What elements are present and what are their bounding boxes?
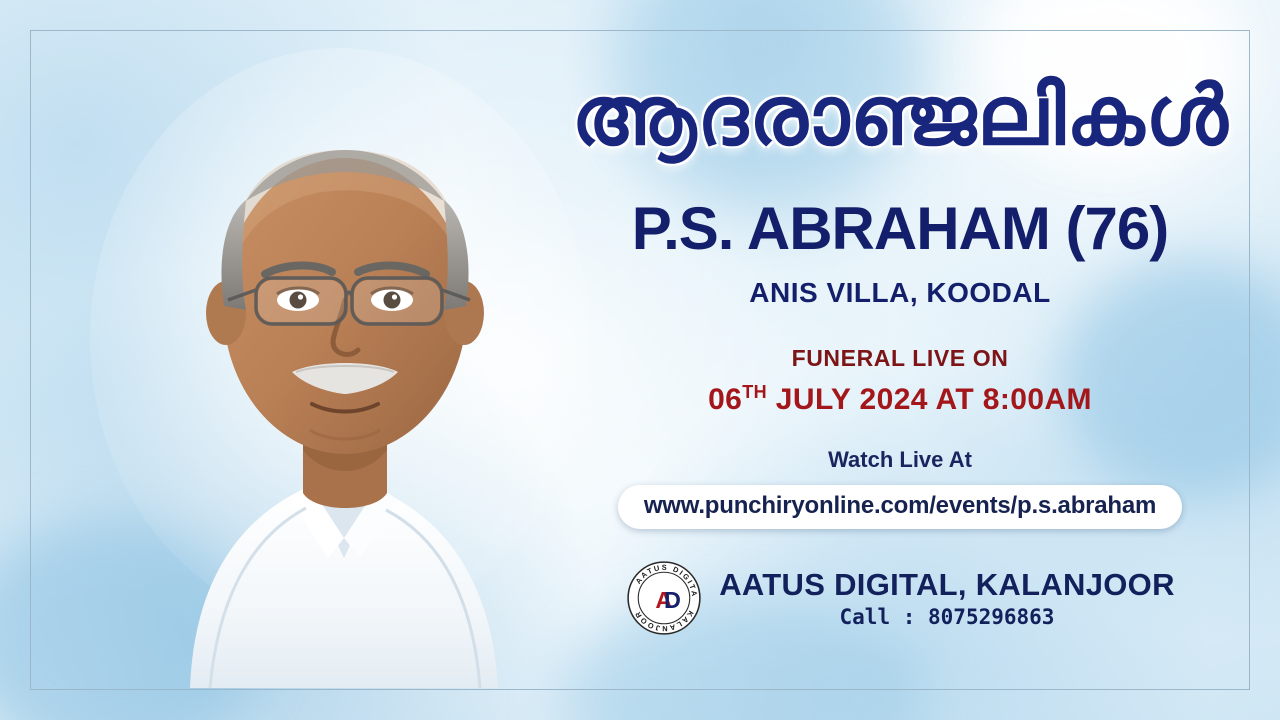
svg-text:D: D [664, 587, 681, 613]
livestream-url[interactable]: www.punchiryonline.com/events/p.s.abraha… [618, 485, 1182, 529]
brand-row: AATUS DIGITAL KALANJOOR A D AATUS DIGITA… [560, 559, 1240, 637]
deceased-name: P.S. ABRAHAM (76) [560, 194, 1240, 263]
funeral-day: 06 [708, 383, 742, 416]
memorial-poster: ആദരാഞ്ജലികൾ P.S. ABRAHAM (76) ANIS VILLA… [0, 0, 1280, 720]
portrait-illustration [60, 38, 620, 688]
funeral-day-suffix: TH [742, 382, 767, 402]
funeral-datetime: 06TH JULY 2024 AT 8:00AM [560, 382, 1240, 417]
watch-live-label: Watch Live At [560, 447, 1240, 473]
logo-badge-icon: AATUS DIGITAL KALANJOOR A D [625, 559, 703, 637]
brand-name: AATUS DIGITAL, KALANJOOR [719, 567, 1175, 603]
poster-content: ആദരാഞ്ജലികൾ P.S. ABRAHAM (76) ANIS VILLA… [560, 40, 1240, 637]
deceased-address: ANIS VILLA, KOODAL [560, 277, 1240, 309]
aatus-digital-logo: AATUS DIGITAL KALANJOOR A D [625, 559, 703, 637]
brand-text-block: AATUS DIGITAL, KALANJOOR Call : 80752968… [719, 567, 1175, 629]
brand-phone: Call : 8075296863 [719, 605, 1175, 629]
funeral-live-label: FUNERAL LIVE ON [560, 345, 1240, 372]
funeral-date-rest: JULY 2024 AT 8:00AM [767, 383, 1092, 416]
portrait-photo [60, 38, 620, 688]
malayalam-heading: ആദരാഞ്ജലികൾ [560, 74, 1240, 160]
